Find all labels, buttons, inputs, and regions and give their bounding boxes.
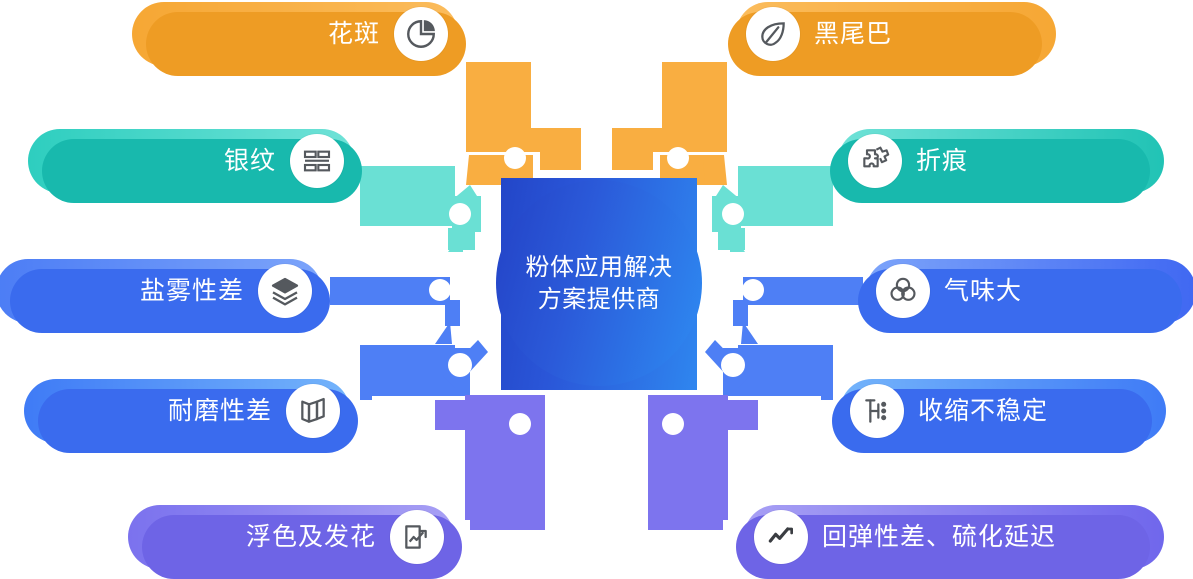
connector-blue-right: [733, 277, 863, 344]
node-right-1-label: 黑尾巴: [814, 22, 892, 47]
connector-teal-left: [360, 166, 481, 252]
node-right-2-label: 折痕: [916, 149, 968, 174]
node-right-2[interactable]: 折痕: [838, 129, 1164, 193]
connector-orange-left: [466, 62, 581, 185]
node-right-4-label: 收缩不稳定: [918, 399, 1048, 424]
leaf-icon: [746, 7, 800, 61]
node-left-5-label: 浮色及发花: [246, 525, 376, 550]
sitemap-icon: [850, 384, 904, 438]
line-chart-icon: [754, 510, 808, 564]
node-left-4-label: 耐磨性差: [168, 399, 272, 424]
puzzle-icon: [848, 134, 902, 188]
node-right-3-label: 气味大: [944, 279, 1022, 304]
node-left-1-label: 花斑: [328, 22, 380, 47]
node-right-1[interactable]: 黑尾巴: [736, 2, 1056, 66]
node-left-3[interactable]: 盐雾性差: [0, 259, 322, 323]
connector-blue2-left: [360, 340, 488, 400]
center-label-line1: 粉体应用解决: [526, 252, 673, 284]
center-label: 粉体应用解决 方案提供商: [501, 178, 697, 390]
center-label-line2: 方案提供商: [538, 284, 661, 316]
node-left-2[interactable]: 银纹: [28, 129, 354, 193]
node-left-3-label: 盐雾性差: [140, 279, 244, 304]
node-left-1[interactable]: 花斑: [132, 2, 458, 66]
node-left-2-label: 银纹: [224, 149, 276, 174]
open-book-icon: [286, 384, 340, 438]
node-right-4[interactable]: 收缩不稳定: [840, 379, 1166, 443]
node-right-5[interactable]: 回弹性差、硫化延迟: [744, 505, 1164, 569]
connector-blue2-right: [705, 340, 833, 400]
connector-orange-right: [612, 62, 727, 185]
connector-teal-right: [712, 166, 833, 252]
connector-purple-left: [435, 395, 545, 530]
pie-chart-icon: [394, 7, 448, 61]
diagram-canvas: 粉体应用解决 方案提供商 花斑 银纹 盐雾性差: [0, 0, 1193, 577]
node-right-3[interactable]: 气味大: [866, 259, 1193, 323]
node-left-5[interactable]: 浮色及发花: [128, 505, 454, 569]
connector-purple-right: [648, 395, 758, 530]
trend-box-icon: [390, 510, 444, 564]
node-left-4[interactable]: 耐磨性差: [24, 379, 350, 443]
node-right-5-label: 回弹性差、硫化延迟: [822, 525, 1056, 550]
connector-blue-left: [330, 277, 460, 344]
brick-wall-icon: [290, 134, 344, 188]
recycle-icon: [876, 264, 930, 318]
center-node: 粉体应用解决 方案提供商: [501, 178, 697, 390]
layers-icon: [258, 264, 312, 318]
